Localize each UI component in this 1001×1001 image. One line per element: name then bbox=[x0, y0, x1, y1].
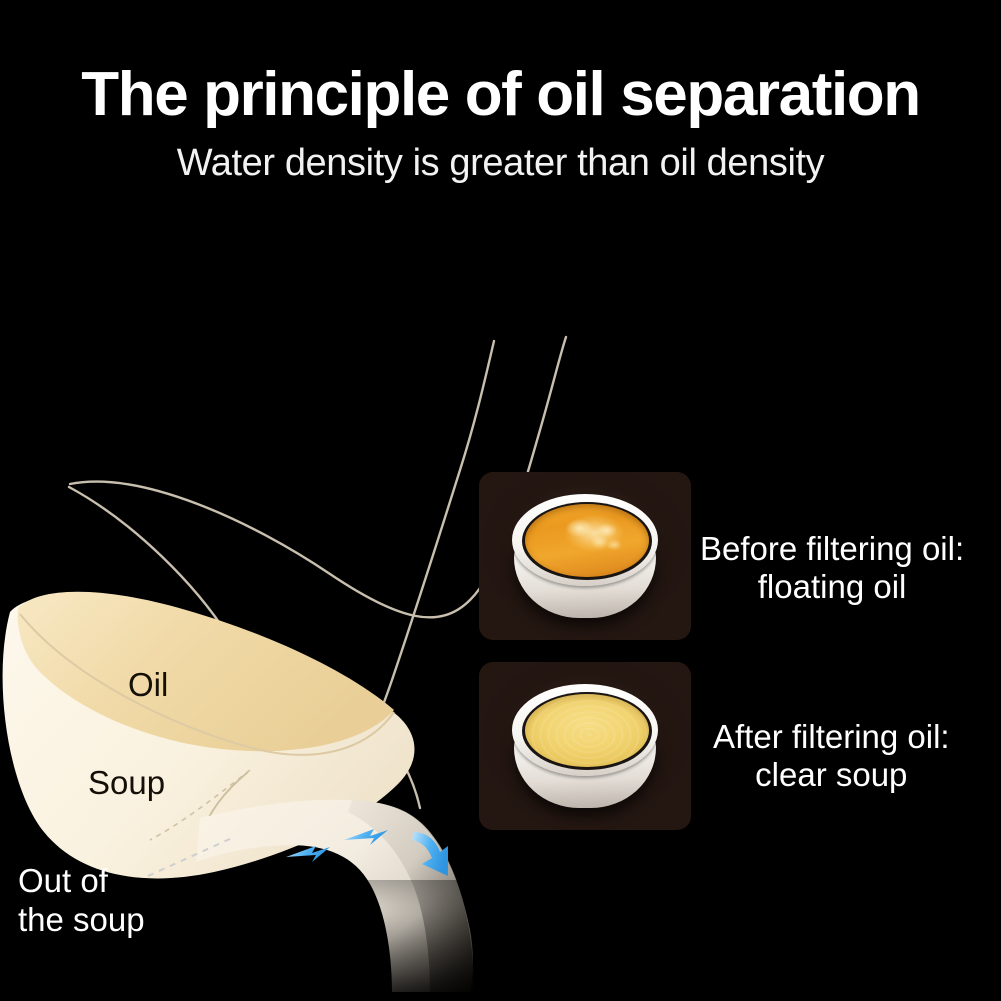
bowl-before bbox=[510, 492, 660, 620]
ladle-oil-layer bbox=[18, 592, 394, 752]
page-title: The principle of oil separation bbox=[0, 62, 1001, 127]
outlet-leader-line bbox=[148, 838, 232, 876]
flow-arrow-3 bbox=[412, 832, 448, 876]
bowl-rim bbox=[512, 494, 658, 586]
caption-after-line1: After filtering oil: bbox=[713, 718, 950, 755]
ladle-soup-layer bbox=[3, 595, 415, 879]
label-out-of-the-soup: Out of the soup bbox=[18, 862, 145, 940]
flow-arrow-2 bbox=[344, 829, 388, 845]
outlet-label-line2: the soup bbox=[18, 901, 145, 938]
ladle-spout-shadow bbox=[348, 800, 474, 992]
ladle-spout-channel bbox=[196, 800, 473, 992]
infographic-canvas: The principle of oil separation Water de… bbox=[0, 0, 1001, 1001]
ladle-rim-crease bbox=[200, 772, 248, 838]
caption-after-line2: clear soup bbox=[713, 756, 950, 794]
clear-soup bbox=[525, 694, 649, 767]
caption-after: After filtering oil: clear soup bbox=[713, 718, 950, 795]
bowl-rim bbox=[512, 684, 658, 776]
bottom-vignette bbox=[150, 880, 550, 1001]
photo-panel-before bbox=[479, 472, 691, 640]
broth-with-floating-oil bbox=[525, 504, 649, 577]
oil-soup-interface-line bbox=[20, 614, 394, 755]
caption-before: Before filtering oil: floating oil bbox=[700, 530, 964, 607]
label-soup: Soup bbox=[88, 766, 165, 799]
flow-arrow-1 bbox=[286, 846, 330, 862]
label-oil: Oil bbox=[128, 668, 168, 701]
photo-panel-after bbox=[479, 662, 691, 830]
caption-before-line1: Before filtering oil: bbox=[700, 530, 964, 567]
page-subtitle: Water density is greater than oil densit… bbox=[0, 143, 1001, 185]
bowl-after bbox=[510, 682, 660, 810]
caption-before-line2: floating oil bbox=[700, 568, 964, 606]
outlet-label-line1: Out of bbox=[18, 862, 108, 899]
